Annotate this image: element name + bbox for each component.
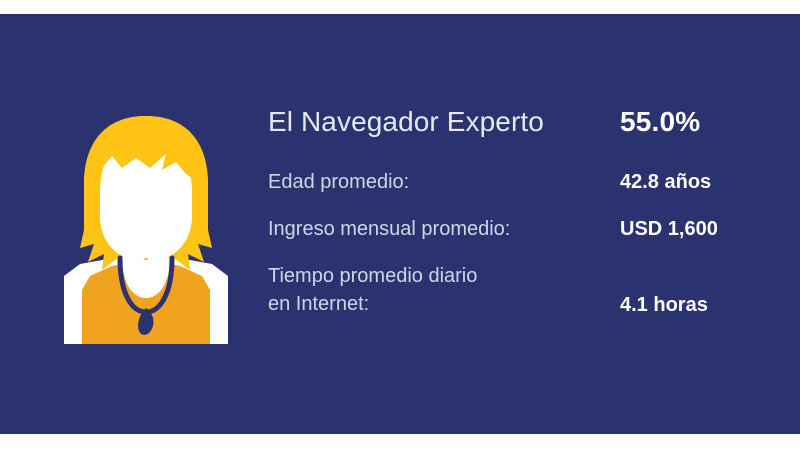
female-person-avatar-icon — [50, 112, 242, 348]
stat-label-daily-internet-time-line2: en Internet: — [268, 290, 477, 318]
profile-stats-block: El Navegador Experto 55.0% Edad promedio… — [268, 105, 768, 345]
page-title: El Navegador Experto — [268, 105, 544, 139]
stat-label-average-age: Edad promedio: — [268, 168, 409, 196]
avatar-bottom-edge — [50, 344, 242, 348]
stat-label-monthly-income: Ingreso mensual promedio: — [268, 215, 510, 243]
stat-label-daily-internet-time-line1: Tiempo promedio diario — [268, 265, 477, 287]
stat-label-daily-internet-time: Tiempo promedio diario en Internet: — [268, 262, 477, 318]
stat-value-average-age: 42.8 años — [620, 168, 711, 196]
stat-value-daily-internet-time: 4.1 horas — [620, 291, 708, 319]
infographic-card: El Navegador Experto 55.0% Edad promedio… — [0, 0, 800, 450]
stat-value-monthly-income: USD 1,600 — [620, 215, 718, 243]
profile-percentage-value: 55.0% — [620, 105, 700, 139]
